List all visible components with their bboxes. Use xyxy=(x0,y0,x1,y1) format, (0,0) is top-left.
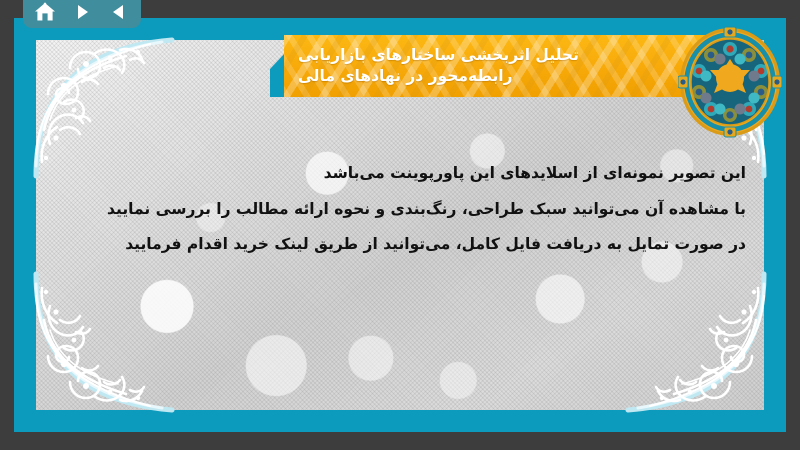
previous-slide-button[interactable] xyxy=(106,0,132,24)
slide-viewer: تحلیل اثربخشی ساختارهای بازاریابی رابطه‌… xyxy=(0,0,800,450)
presentation-slide: تحلیل اثربخشی ساختارهای بازاریابی رابطه‌… xyxy=(14,18,786,432)
triangle-left-icon xyxy=(110,3,128,21)
home-button[interactable] xyxy=(32,0,58,24)
home-icon xyxy=(34,2,56,22)
triangle-right-icon xyxy=(73,3,91,21)
slide-body-text: این تصویر نمونه‌ای از اسلایدهای این پاور… xyxy=(54,156,746,263)
next-slide-button[interactable] xyxy=(69,0,95,24)
navigation-bar xyxy=(23,0,141,28)
page-title-line-1: تحلیل اثربخشی ساختارهای بازاریابی xyxy=(298,45,579,66)
page-title-line-2: رابطه‌محور در نهادهای مالی xyxy=(298,66,513,87)
body-line-2: با مشاهده آن می‌توانید سبک طراحی، رنگ‌بن… xyxy=(54,192,746,228)
body-line-1: این تصویر نمونه‌ای از اسلایدهای این پاور… xyxy=(54,156,746,192)
islamic-medallion-icon xyxy=(678,26,782,138)
body-line-3: در صورت تمایل به دریافت فایل کامل، می‌تو… xyxy=(54,227,746,263)
